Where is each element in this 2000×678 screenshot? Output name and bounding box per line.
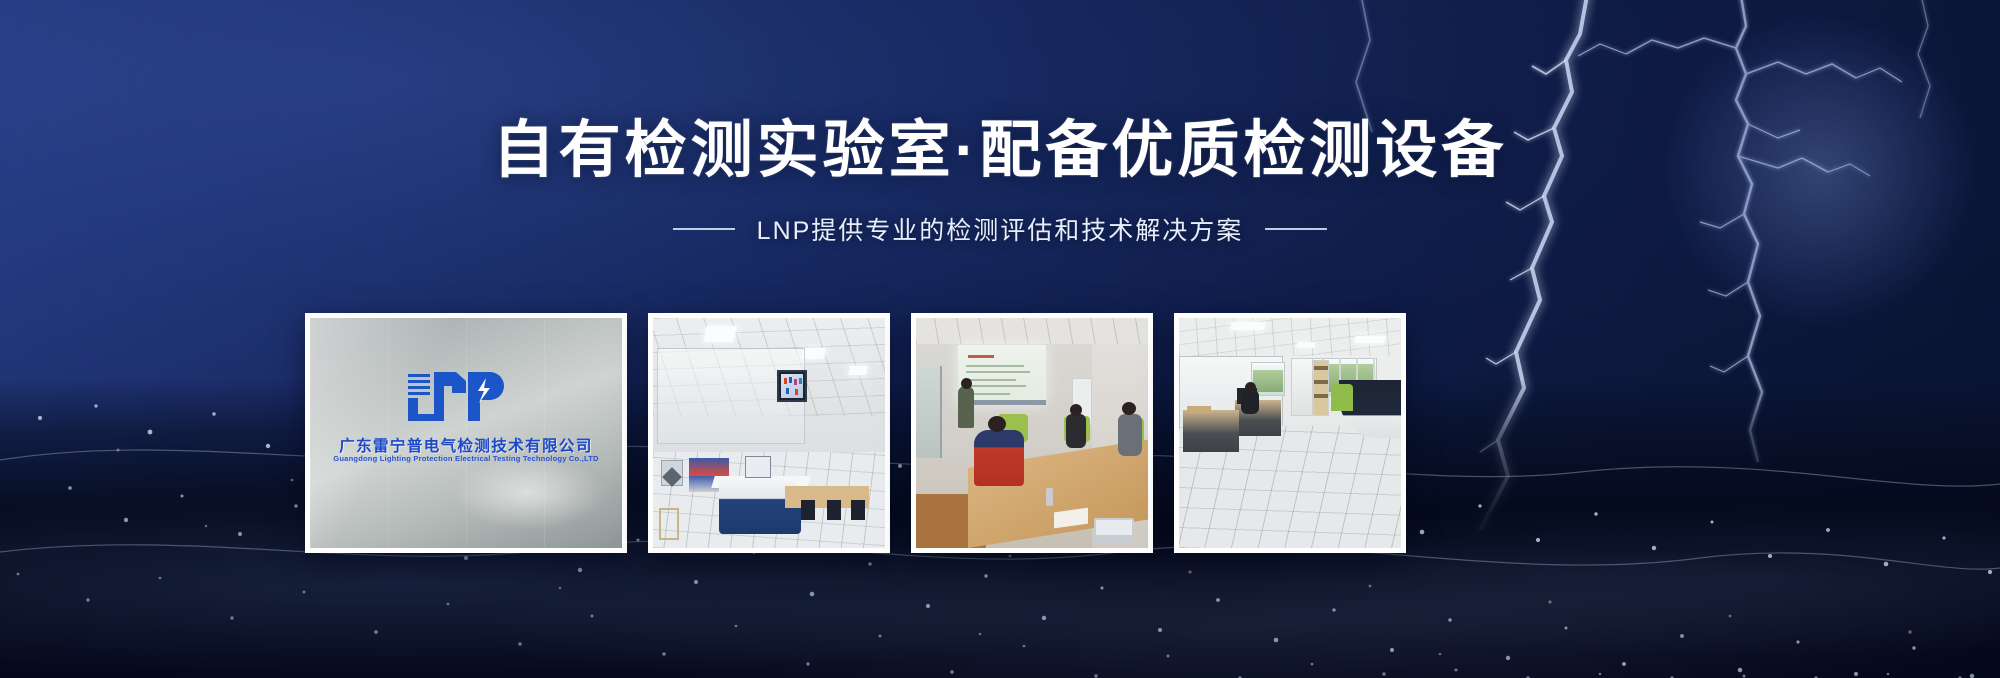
visitor-chair-seat xyxy=(1331,406,1353,411)
attendee-head xyxy=(1122,402,1136,415)
office-worker xyxy=(1241,390,1259,414)
ceiling-light xyxy=(1354,336,1385,343)
gallery-photo-training-meeting-room[interactable] xyxy=(911,313,1153,553)
photo-gallery: 广东雷宁普电气检测技术有限公司 Guangdong Lighting Prote… xyxy=(305,313,1648,553)
ceiling-light xyxy=(802,348,826,359)
attendee-head xyxy=(988,416,1006,432)
signboard-company-en: Guangdong Lighting Protection Electrical… xyxy=(310,454,622,463)
ceiling-light xyxy=(1296,342,1315,348)
ceiling-light xyxy=(848,366,868,375)
work-desk xyxy=(1183,410,1239,452)
thermos xyxy=(1046,488,1053,506)
meeting-room-ceiling xyxy=(916,318,1148,344)
hero-text-block: 自有检测实验室·配备优质检测设备 LNP提供专业的检测评估和技术解决方案 xyxy=(0,118,2000,247)
wall-monitor xyxy=(777,370,807,402)
gallery-photo-company-signboard[interactable]: 广东雷宁普电气检测技术有限公司 Guangdong Lighting Prote… xyxy=(305,313,627,553)
shelf-items xyxy=(1314,380,1328,384)
attendee-head xyxy=(1070,404,1082,416)
sample-stand xyxy=(659,508,679,540)
laptop xyxy=(1094,518,1134,544)
ceiling-light xyxy=(703,326,736,342)
signboard-company-cn: 广东雷宁普电气检测技术有限公司 xyxy=(310,434,622,456)
page-title: 自有检测实验室·配备优质检测设备 xyxy=(0,118,2000,185)
subtitle-row: LNP提供专业的检测评估和技术解决方案 xyxy=(0,211,2000,247)
attendee-right xyxy=(1118,414,1142,456)
gallery-photo-office-area[interactable] xyxy=(1174,313,1406,553)
attendee-front xyxy=(974,430,1024,486)
shelf-items xyxy=(1314,366,1328,370)
glass-door xyxy=(916,366,942,458)
attendee-mid xyxy=(1066,414,1086,448)
page-subtitle: LNP提供专业的检测评估和技术解决方案 xyxy=(757,211,1244,247)
divider-left-icon xyxy=(673,228,735,230)
office-worker-head xyxy=(1245,382,1256,393)
storage-cabinet xyxy=(1291,358,1313,416)
gallery-photo-testing-laboratory[interactable] xyxy=(648,313,890,553)
divider-right-icon xyxy=(1265,228,1327,230)
presenter-head xyxy=(961,378,972,389)
console-monitor xyxy=(745,456,771,478)
chair xyxy=(851,500,865,520)
shelf-items xyxy=(1314,394,1328,398)
ceiling-light xyxy=(1230,322,1266,330)
window-greenery xyxy=(1253,370,1283,392)
desk-documents xyxy=(1187,406,1211,413)
hero-banner: 自有检测实验室·配备优质检测设备 LNP提供专业的检测评估和技术解决方案 xyxy=(0,0,2000,678)
lnp-logo-icon xyxy=(404,366,514,422)
signboard-wall xyxy=(310,318,622,548)
chair xyxy=(827,500,841,520)
chair xyxy=(801,500,815,520)
presenter xyxy=(958,386,974,428)
